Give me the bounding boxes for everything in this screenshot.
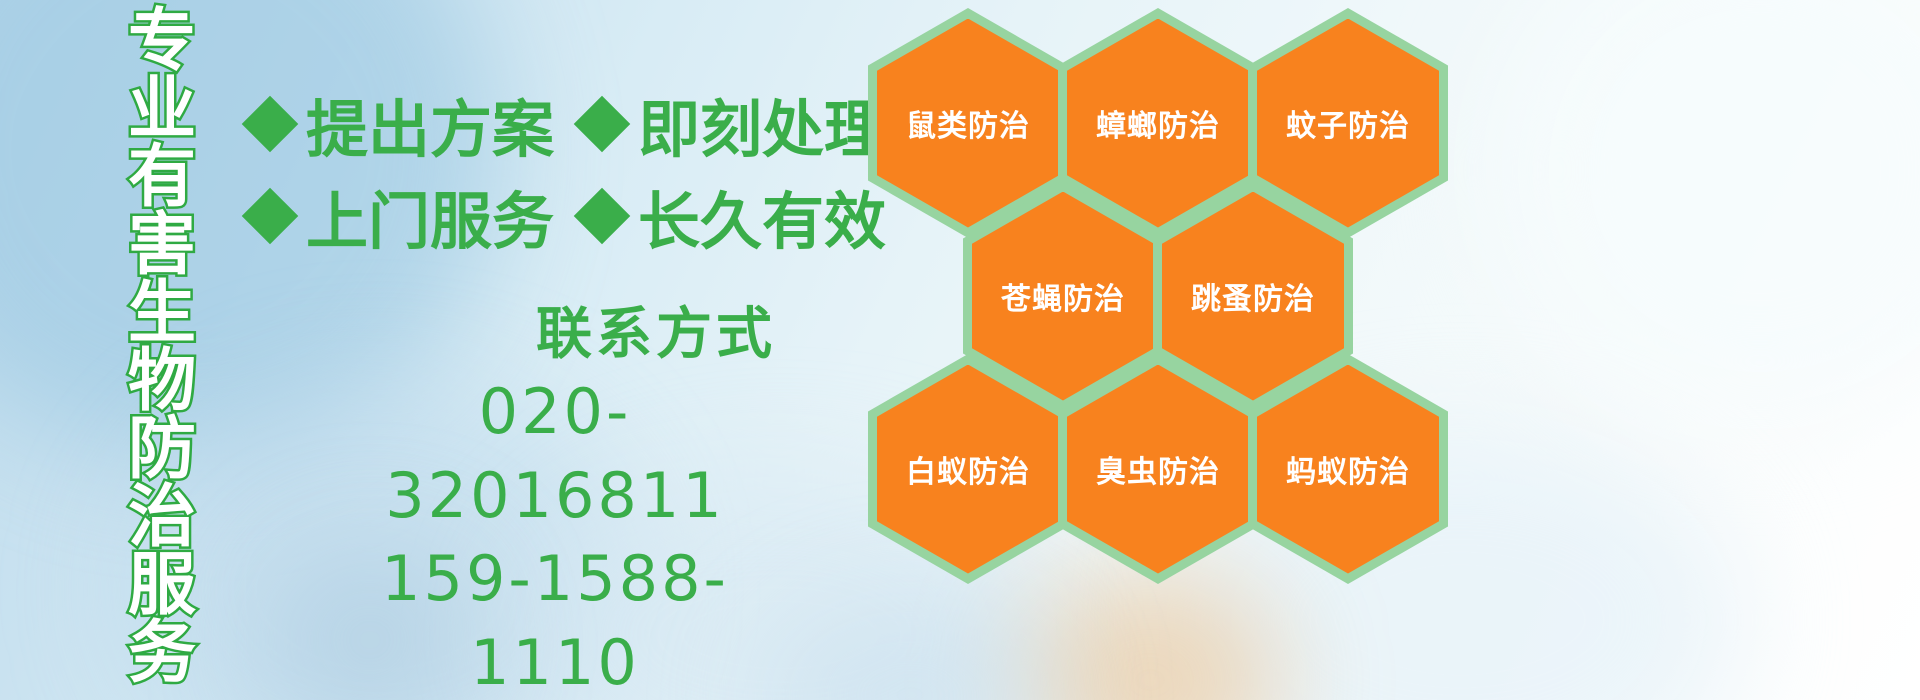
diamond-icon — [242, 96, 299, 153]
vertical-headline-char: 生 — [128, 280, 196, 348]
service-hex-label: 蚊子防治 — [1286, 101, 1410, 145]
service-hex-label: 臭虫防治 — [1096, 447, 1220, 491]
diamond-icon — [242, 188, 299, 245]
service-hex-inner: 蟑螂防治 — [1067, 19, 1249, 228]
service-hex-label: 蟑螂防治 — [1096, 101, 1220, 145]
service-hex-label: 白蚁防治 — [906, 447, 1030, 491]
feature-label: 上门服务 — [306, 171, 554, 261]
vertical-headline-char: 防 — [128, 416, 196, 484]
vertical-headline-char: 治 — [128, 484, 196, 552]
diamond-icon — [574, 188, 631, 245]
service-hex-inner: 白蚁防治 — [877, 365, 1059, 574]
service-honeycomb: 鼠类防治 蟑螂防治 蚊子防治 苍蝇防治 跳蚤防治 白蚁防治 — [860, 0, 1480, 580]
contact-heading: 联系方式 — [320, 300, 790, 370]
vertical-headline-char: 业 — [128, 76, 196, 144]
phone-number-mobile[interactable]: 159-1588-1110 — [320, 537, 790, 700]
vertical-headline: 专 业 有 害 生 物 防 治 服 务 — [108, 8, 216, 680]
background-blur-blob — [760, 600, 1060, 700]
background-blur-blob — [1020, 570, 1280, 700]
phone-number-landline[interactable]: 020-32016811 — [320, 370, 790, 537]
vertical-headline-char: 有 — [128, 144, 196, 212]
feature-label: 即刻处理 — [638, 79, 886, 169]
service-hex-inner: 跳蚤防治 — [1162, 192, 1344, 401]
vertical-headline-char: 害 — [128, 212, 196, 280]
vertical-headline-char: 服 — [128, 552, 196, 620]
feature-list: 提出方案 即刻处理 上门服务 长久有效 — [250, 78, 870, 262]
service-hex-inner: 臭虫防治 — [1067, 365, 1249, 574]
service-hex-inner: 蚊子防治 — [1257, 19, 1439, 228]
vertical-headline-char: 物 — [128, 348, 196, 416]
service-hex-label: 鼠类防治 — [906, 101, 1030, 145]
background-blur-blob — [1500, 0, 1920, 420]
vertical-headline-char: 务 — [128, 620, 196, 688]
vertical-headline-char: 专 — [128, 8, 196, 76]
service-hex-inner: 苍蝇防治 — [972, 192, 1154, 401]
service-hex-inner: 蚂蚁防治 — [1257, 365, 1439, 574]
feature-row: 上门服务 长久有效 — [250, 170, 870, 262]
feature-label: 长久有效 — [638, 171, 886, 261]
diamond-icon — [574, 96, 631, 153]
contact-block: 联系方式 020-32016811 159-1588-1110 — [320, 300, 790, 700]
service-hex-inner: 鼠类防治 — [877, 19, 1059, 228]
feature-label: 提出方案 — [306, 79, 554, 169]
feature-row: 提出方案 即刻处理 — [250, 78, 870, 170]
service-hex-label: 蚂蚁防治 — [1286, 447, 1410, 491]
service-hex-label: 苍蝇防治 — [1001, 274, 1125, 318]
promo-banner: 专 业 有 害 生 物 防 治 服 务 提出方案 即刻处理 上门服务 长久有效 … — [0, 0, 1920, 700]
service-hex-label: 跳蚤防治 — [1191, 274, 1315, 318]
